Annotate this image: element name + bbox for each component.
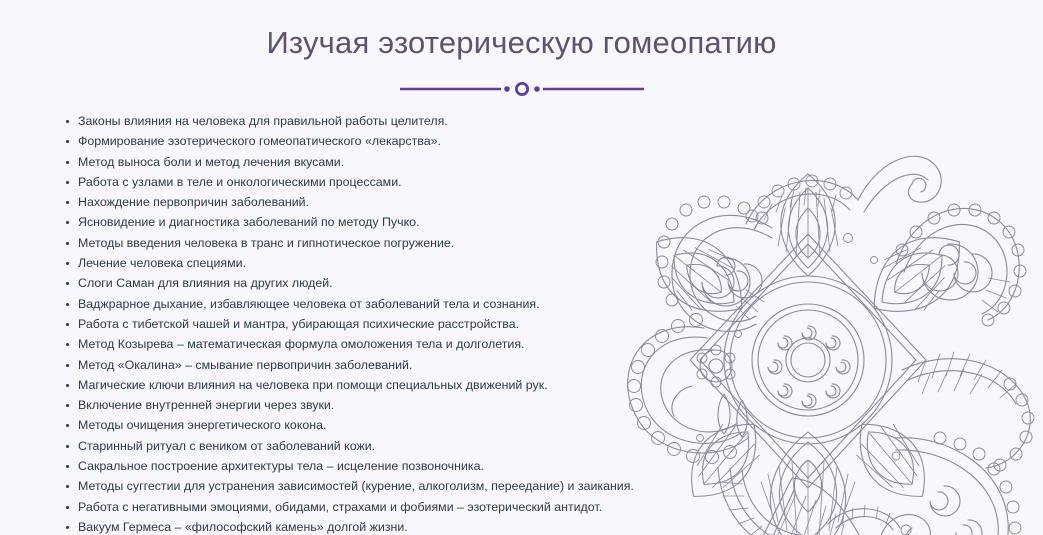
list-item: Методы введения человека в транс и гипно… xyxy=(62,233,622,253)
list-item: Ясновидение и диагностика заболеваний по… xyxy=(62,212,622,232)
list-item: Работа с тибетской чашей и мантра, убира… xyxy=(62,314,622,334)
list-item: Включение внутренней энергии через звуки… xyxy=(62,395,622,415)
list-item: Магические ключи влияния на человека при… xyxy=(62,375,622,395)
list-item: Законы влияния на человека для правильно… xyxy=(62,111,622,131)
ornamental-divider xyxy=(0,82,1043,96)
page-root: Изучая эзотерическую гомеопатию Законы в… xyxy=(0,0,1043,535)
page-title: Изучая эзотерическую гомеопатию xyxy=(0,24,1043,62)
list-item: Метод Козырева – математическая формула … xyxy=(62,334,622,354)
mandala-ornament xyxy=(596,138,1043,535)
list-item: Методы суггестии для устранения зависимо… xyxy=(62,476,622,496)
list-item: Лечение человека специями. xyxy=(62,253,622,273)
list-item: Слоги Саман для влияния на других людей. xyxy=(62,273,622,293)
list-item: Нахождение первопричин заболеваний. xyxy=(62,192,622,212)
ornamental-divider-icon xyxy=(400,82,644,96)
list-item: Ваджрарное дыхание, избавляющее человека… xyxy=(62,294,622,314)
list-item: Сакральное построение архитектуры тела –… xyxy=(62,456,622,476)
list-item: Работа с негативными эмоциями, обидами, … xyxy=(62,497,622,517)
title-block: Изучая эзотерическую гомеопатию xyxy=(0,24,1043,62)
list-item: Вакуум Гермеса – «философский камень» до… xyxy=(62,517,622,535)
list-item: Метод выноса боли и метод лечения вкусам… xyxy=(62,152,622,172)
list-item: Формирование эзотерического гомеопатичес… xyxy=(62,131,622,151)
list-item: Старинный ритуал с веником от заболевани… xyxy=(62,436,622,456)
list-item: Методы очищения энергетического кокона. xyxy=(62,415,622,435)
content-list: Законы влияния на человека для правильно… xyxy=(62,111,622,535)
list-item: Метод «Окалина» – смывание первопричин з… xyxy=(62,355,622,375)
mandala-ornament-icon xyxy=(596,138,1043,535)
list-item: Работа с узлами в теле и онкологическими… xyxy=(62,172,622,192)
